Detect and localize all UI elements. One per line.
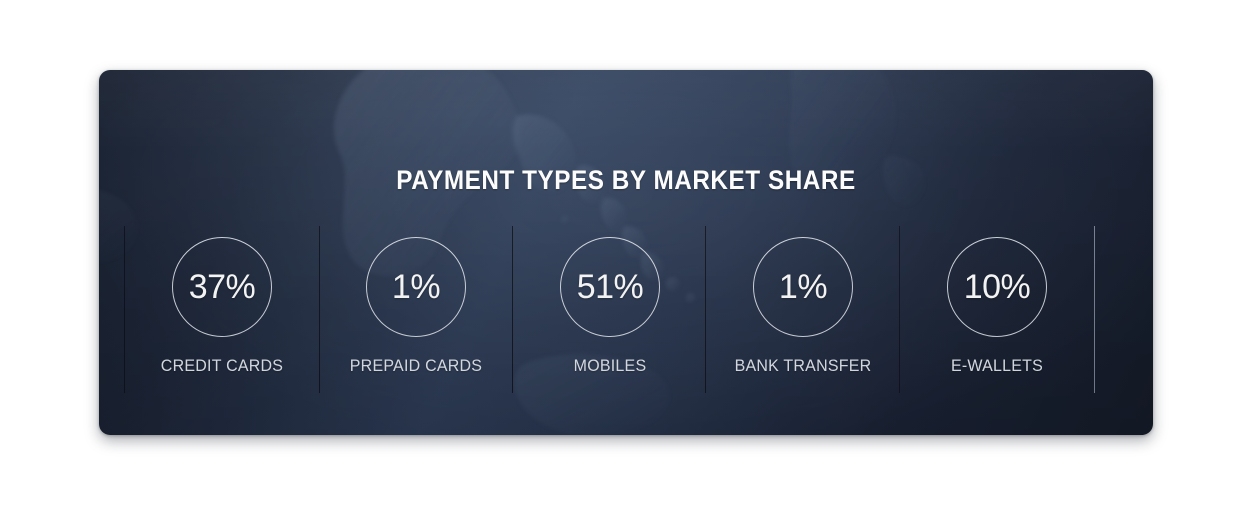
percent-ring-mobiles: 51%	[560, 237, 660, 337]
stat-mobiles[interactable]: 51% MOBILES	[530, 226, 690, 376]
market-share-card: PAYMENT TYPES BY MARKET SHARE 37% CREDIT…	[99, 70, 1153, 435]
percent-ring-bank-transfer: 1%	[753, 237, 853, 337]
percent-value: 1%	[392, 270, 440, 304]
column-divider-4	[705, 226, 706, 393]
percent-value: 51%	[577, 270, 644, 304]
percent-ring-credit-cards: 37%	[172, 237, 272, 337]
percent-value: 37%	[189, 270, 256, 304]
stat-credit-cards[interactable]: 37% CREDIT CARDS	[142, 226, 302, 376]
percent-value: 10%	[964, 270, 1031, 304]
infographic-canvas: PAYMENT TYPES BY MARKET SHARE 37% CREDIT…	[0, 0, 1253, 510]
percent-ring-e-wallets: 10%	[947, 237, 1047, 337]
percent-value: 1%	[779, 270, 827, 304]
stat-label: BANK TRANSFER	[728, 356, 878, 376]
column-divider-6	[1094, 226, 1095, 393]
stat-bank-transfer[interactable]: 1% BANK TRANSFER	[723, 226, 883, 376]
stat-prepaid-cards[interactable]: 1% PREPAID CARDS	[336, 226, 496, 376]
stat-label: PREPAID CARDS	[341, 356, 491, 376]
column-divider-1	[124, 226, 125, 393]
stat-label: CREDIT CARDS	[147, 356, 297, 376]
stat-label: MOBILES	[535, 356, 685, 376]
stat-e-wallets[interactable]: 10% E-WALLETS	[917, 226, 1077, 376]
page-title: PAYMENT TYPES BY MARKET SHARE	[152, 165, 1101, 196]
stats-row: 37% CREDIT CARDS 1% PREPAID CARDS 51% MO…	[99, 226, 1153, 406]
column-divider-3	[512, 226, 513, 393]
stat-label: E-WALLETS	[922, 356, 1072, 376]
column-divider-2	[319, 226, 320, 393]
column-divider-5	[899, 226, 900, 393]
percent-ring-prepaid-cards: 1%	[366, 237, 466, 337]
